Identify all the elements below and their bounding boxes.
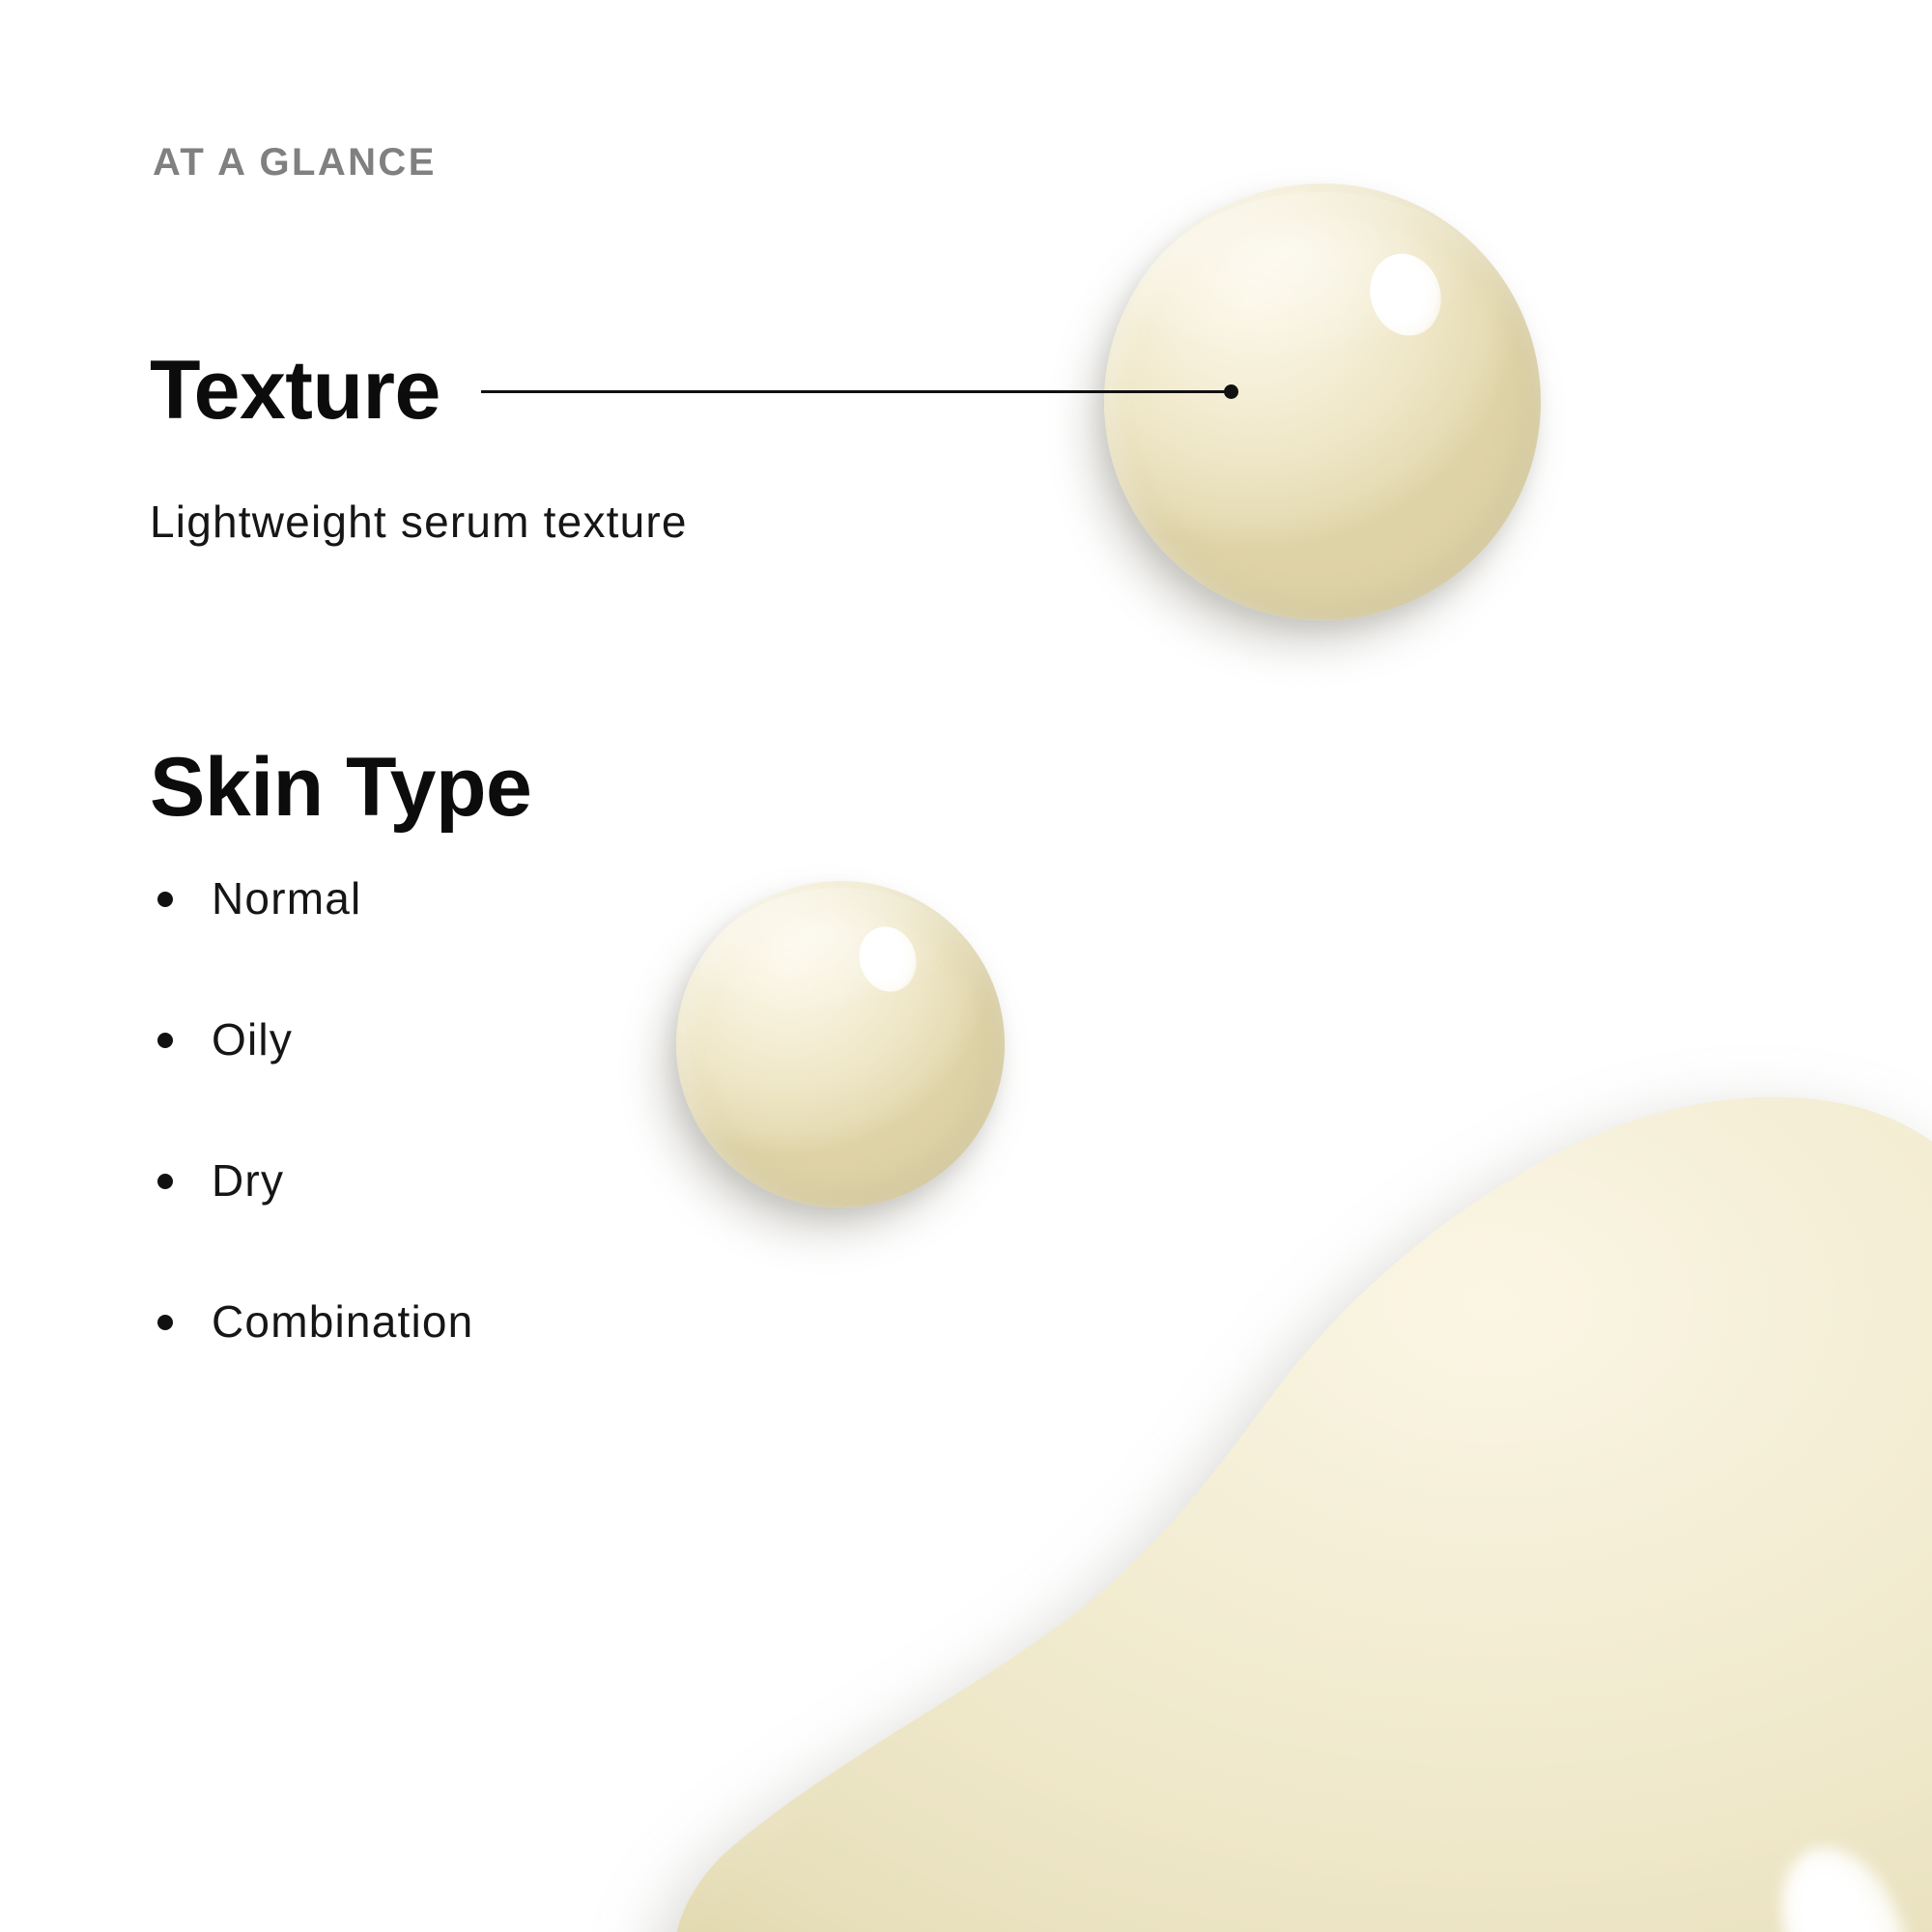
texture-description: Lightweight serum texture [150,444,1309,551]
section-skin-type: Skin Type Normal Oily Dry Combination [150,744,1019,1344]
leader-endpoint-dot-icon [1224,384,1238,399]
list-item: Oily [150,1017,1019,1062]
bullet-dot-icon [157,1315,173,1330]
skin-type-list: Normal Oily Dry Combination [150,832,1019,1344]
list-item-label: Combination [212,1296,473,1347]
texture-heading: Texture [150,347,440,435]
droplet-large-highlight-icon [1359,244,1451,345]
bullet-dot-icon [157,1033,173,1048]
eyebrow-label: AT A GLANCE [153,143,437,182]
section-texture: Texture Lightweight serum texture [150,338,1309,551]
leader-line-to-droplet [481,384,1235,398]
skin-type-heading: Skin Type [150,744,531,832]
bullet-dot-icon [157,892,173,907]
list-item: Normal [150,876,1019,921]
list-item-label: Normal [212,873,361,923]
list-item-label: Oily [212,1014,293,1065]
texture-heading-row: Texture [150,338,1309,444]
blob-highlight-icon [1757,1828,1932,1932]
list-item: Dry [150,1158,1019,1203]
leader-line-stroke [481,390,1235,393]
list-item: Combination [150,1299,1019,1344]
bullet-dot-icon [157,1174,173,1189]
list-item-label: Dry [212,1155,284,1206]
at-a-glance-panel: AT A GLANCE Texture Lightweight serum te… [0,0,1932,1932]
